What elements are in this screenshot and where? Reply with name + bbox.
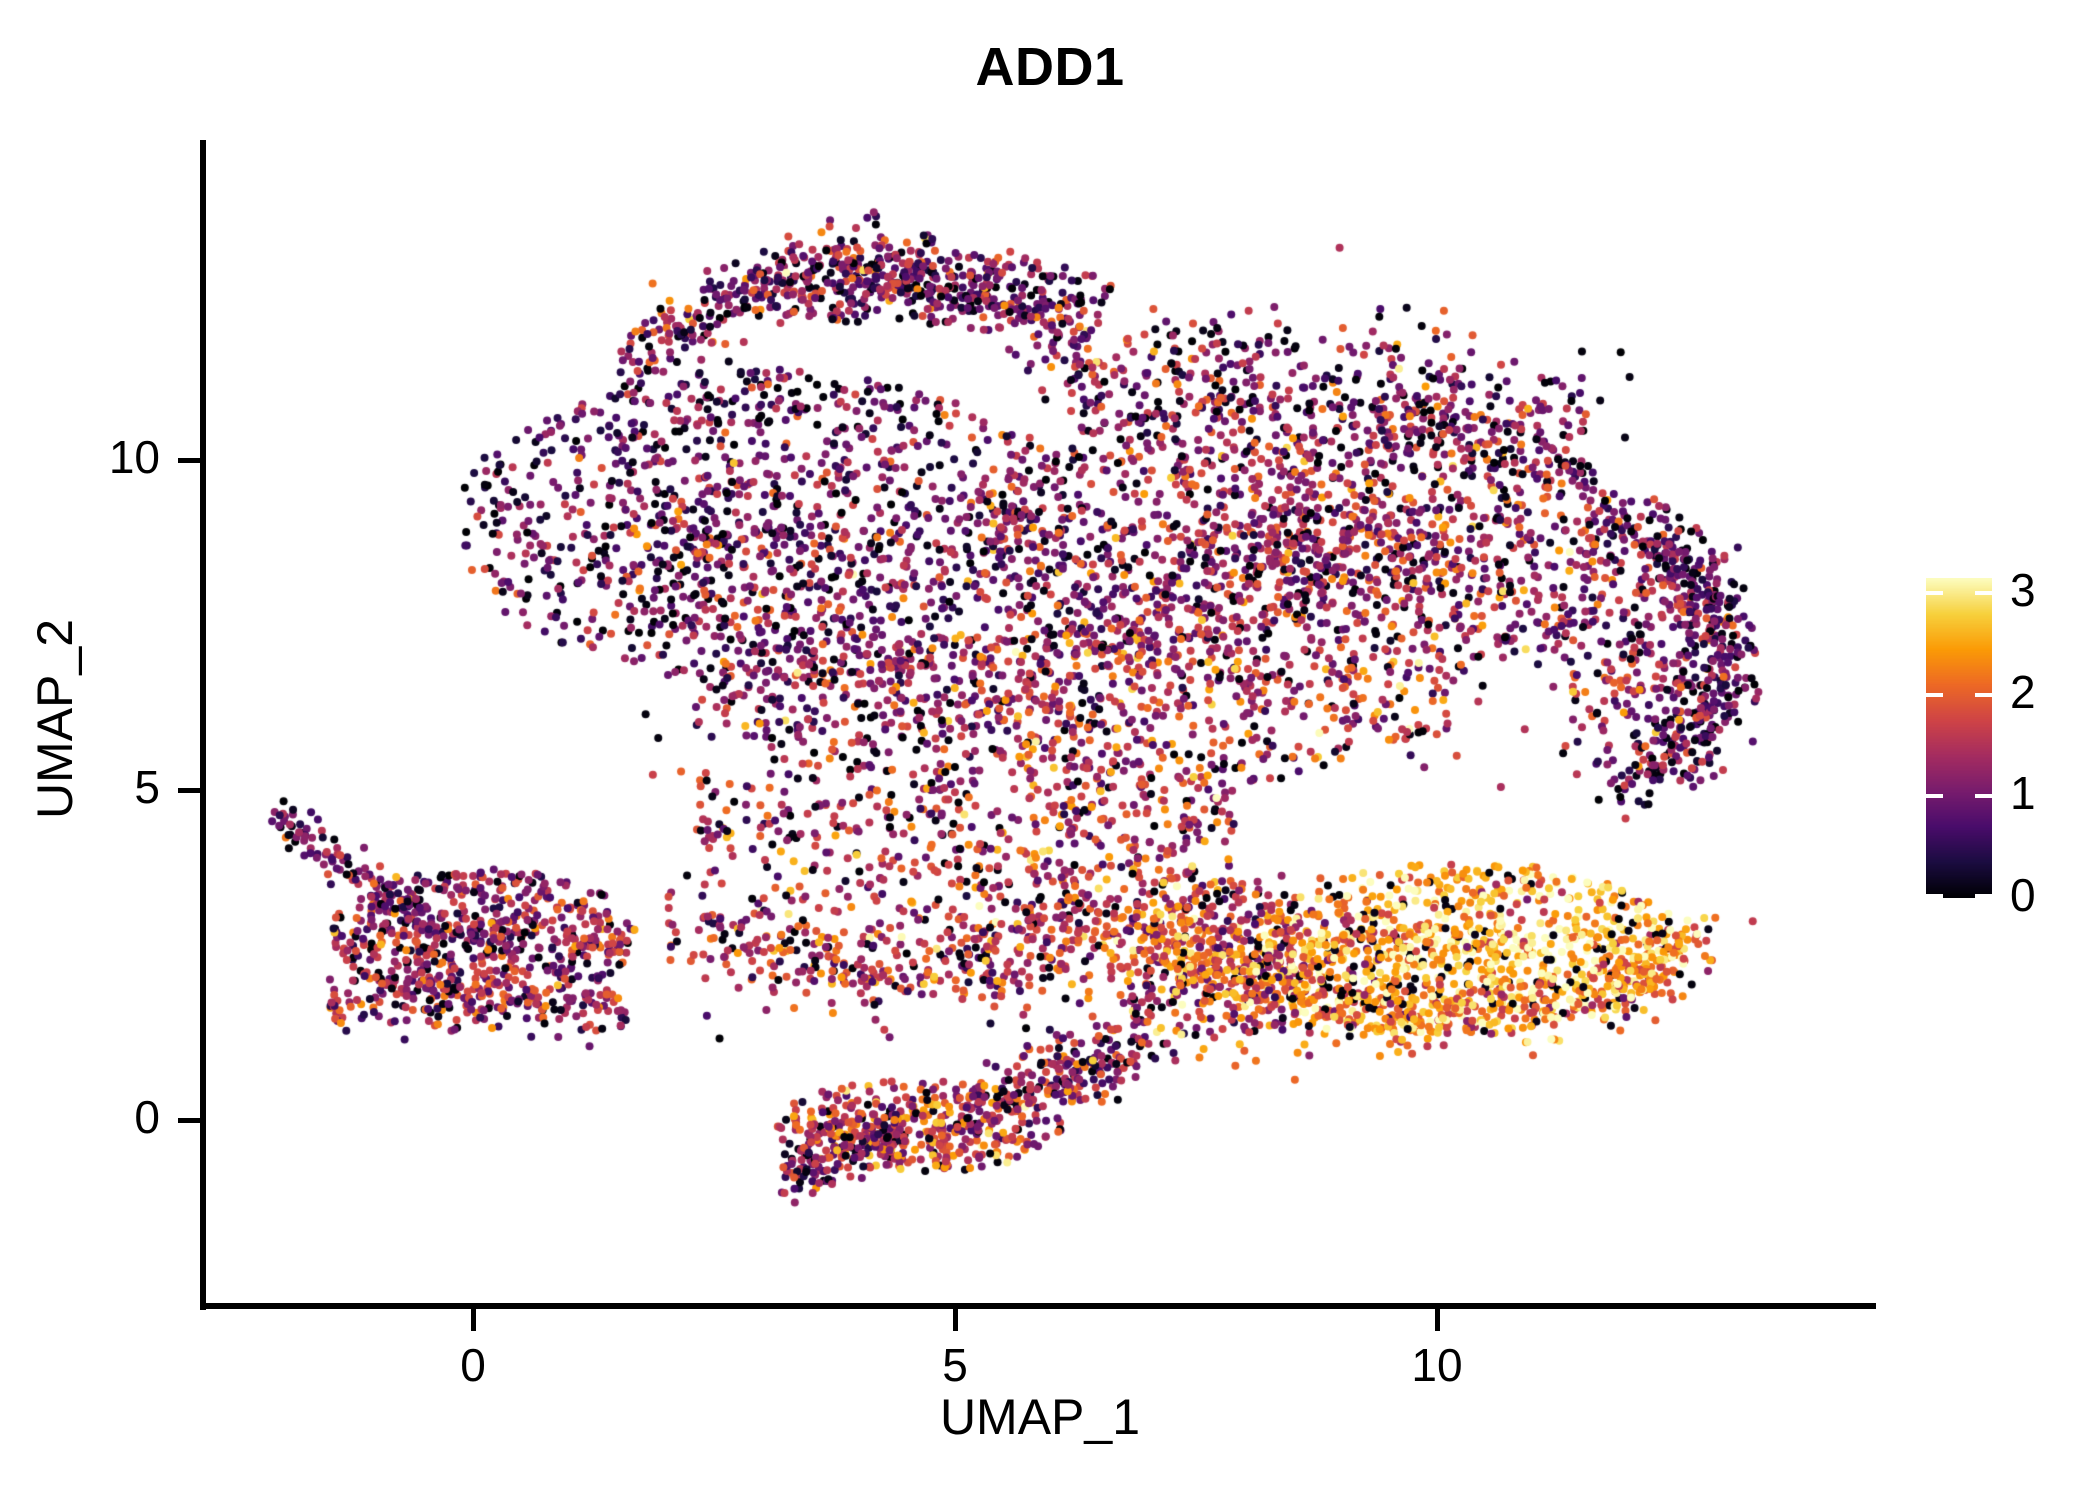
y-tick-label: 0 bbox=[10, 1090, 160, 1144]
x-tick-mark bbox=[953, 1309, 958, 1331]
legend-tick-label: 2 bbox=[2010, 665, 2100, 719]
legend-tick-label: 0 bbox=[2010, 868, 2100, 922]
x-tick-label: 5 bbox=[875, 1338, 1035, 1392]
y-tick-mark bbox=[178, 1118, 200, 1123]
legend-tick-label: 1 bbox=[2010, 766, 2100, 820]
legend-tick-label: 3 bbox=[2010, 563, 2100, 617]
legend-tick-mark bbox=[1926, 794, 1992, 798]
scatter-points-layer bbox=[205, 140, 1875, 1307]
y-tick-mark bbox=[178, 788, 200, 793]
x-axis-line bbox=[200, 1303, 1876, 1309]
legend-tick-mark bbox=[1926, 894, 1992, 898]
page-title: ADD1 bbox=[0, 36, 2100, 98]
color-legend-bar bbox=[1926, 578, 1992, 898]
x-tick-mark bbox=[471, 1309, 476, 1331]
x-tick-mark bbox=[1435, 1309, 1440, 1331]
plot-panel bbox=[205, 140, 1875, 1307]
umap-feature-plot: ADD1 1050 0510 UMAP_2 UMAP_1 3210 bbox=[0, 0, 2100, 1500]
x-axis-title: UMAP_1 bbox=[205, 1388, 1875, 1446]
color-legend bbox=[1926, 578, 1992, 898]
x-tick-label: 10 bbox=[1357, 1338, 1517, 1392]
x-tick-label: 0 bbox=[393, 1338, 553, 1392]
legend-tick-mark bbox=[1926, 591, 1992, 595]
y-tick-mark bbox=[178, 458, 200, 463]
legend-tick-mark bbox=[1926, 693, 1992, 697]
y-axis-line bbox=[200, 140, 206, 1310]
y-axis-title: UMAP_2 bbox=[26, 469, 84, 969]
